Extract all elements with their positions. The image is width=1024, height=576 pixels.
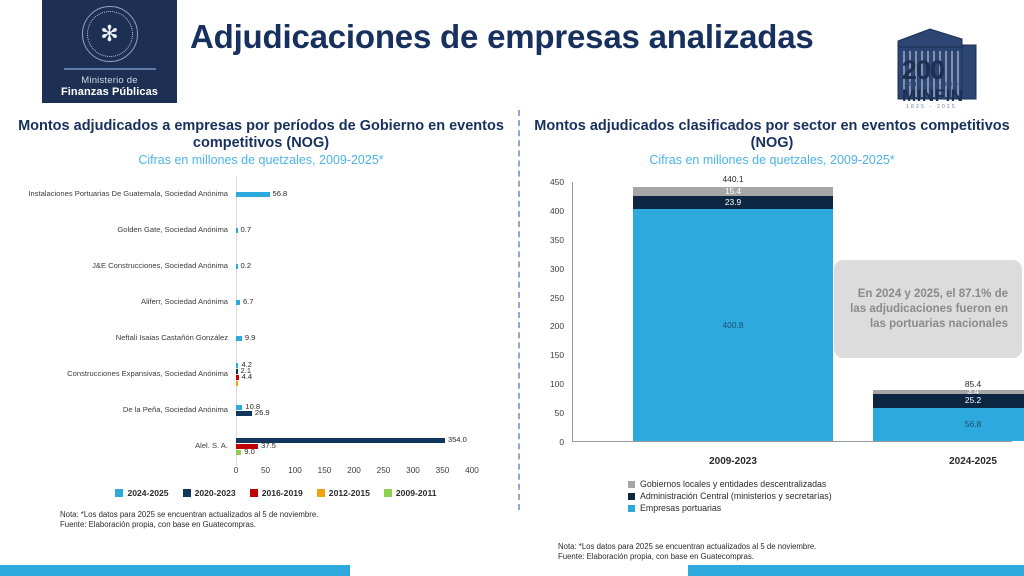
bar-value-label: 0.7 xyxy=(241,226,252,234)
legend-label: Administración Central (ministerios y se… xyxy=(640,490,832,502)
y-axis-tick: 350 xyxy=(550,235,564,245)
bar-category-label: Alel. S. A. xyxy=(8,441,236,451)
stack-value-label: 23.9 xyxy=(725,198,741,207)
bar-group: 9.9 xyxy=(236,320,514,356)
bar-segment xyxy=(236,381,238,386)
x-axis-tick: 300 xyxy=(406,466,420,475)
stack-value-label: 25.2 xyxy=(965,396,981,405)
bar-group: 354.037.59.0 xyxy=(236,428,514,464)
bar-value-label: 354.0 xyxy=(448,436,467,444)
stack-segment: 15.4 xyxy=(633,187,833,196)
x-axis-category-label: 2009-2023 xyxy=(653,456,813,467)
minfin-anniversary-logo: 200 ANIVERSARIO MINFIN 1825 - 2025 xyxy=(880,17,996,107)
callout-text: En 2024 y 2025, el 87.1% de las adjudica… xyxy=(848,287,1008,332)
legend-swatch-icon xyxy=(183,489,191,497)
left-chart-x-ticks: 050100150200250300350400 xyxy=(236,466,514,480)
page-title: Adjudicaciones de empresas analizadas xyxy=(190,18,890,56)
bar-row: Construcciones Expansivas, Sociedad Anón… xyxy=(8,356,514,392)
bar-segment xyxy=(236,405,242,410)
footer-bar-right xyxy=(688,565,1024,576)
bar-segment xyxy=(236,375,239,380)
bar-segment xyxy=(236,228,238,233)
bar-row: Neftali Isaias Castañón González9.9 xyxy=(8,320,514,356)
x-axis-tick: 150 xyxy=(318,466,332,475)
stack-segment: 400.8 xyxy=(633,209,833,441)
left-panel: Montos adjudicados a empresas por períod… xyxy=(8,118,514,530)
bar-category-label: J&E Construcciones, Sociedad Anónima xyxy=(8,261,236,271)
stack-total-label: 440.1 xyxy=(633,174,833,184)
legend-item[interactable]: Empresas portuarias xyxy=(628,502,832,514)
legend-swatch-icon xyxy=(628,481,635,488)
bar-value-label: 9.0 xyxy=(244,448,255,456)
right-chart-note: Nota: *Los datos para 2025 se encuentran… xyxy=(558,542,816,562)
left-chart-note: Nota: *Los datos para 2025 se encuentran… xyxy=(8,510,514,530)
bar-value-label: 56.8 xyxy=(273,190,288,198)
y-axis-tick: 200 xyxy=(550,321,564,331)
bar-segment xyxy=(236,411,252,416)
x-axis-tick: 350 xyxy=(436,466,450,475)
y-axis-tick: 100 xyxy=(550,379,564,389)
stack-total-label: 85.4 xyxy=(873,379,1024,389)
minfin-brand: MINFIN xyxy=(902,87,964,105)
anniversary-number: 200 xyxy=(902,57,944,84)
y-axis-tick: 150 xyxy=(550,350,564,360)
legend-item[interactable]: 2016-2019 xyxy=(250,488,303,498)
stack-value-label: 400.8 xyxy=(723,321,744,330)
bar-group: 0.2 xyxy=(236,248,514,284)
left-chart-title: Montos adjudicados a empresas por períod… xyxy=(8,118,514,152)
x-axis-tick: 50 xyxy=(261,466,270,475)
stack-value-label: 15.4 xyxy=(725,187,741,196)
bar-category-label: Neftali Isaias Castañón González xyxy=(8,333,236,343)
y-axis-tick: 250 xyxy=(550,293,564,303)
ministry-logo: ✻ Ministerio de Finanzas Públicas xyxy=(42,0,177,103)
stacked-bar: 15.423.9400.8440.1 xyxy=(633,187,833,441)
y-axis-tick: 400 xyxy=(550,206,564,216)
x-axis-tick: 0 xyxy=(234,466,239,475)
guatemala-seal-icon: ✻ xyxy=(82,6,138,62)
x-axis-tick: 200 xyxy=(347,466,361,475)
legend-swatch-icon xyxy=(250,489,258,497)
bar-group: 10.826.9 xyxy=(236,392,514,428)
left-note-line-2: Fuente: Elaboración propia, con base en … xyxy=(60,520,514,530)
y-axis-tick: 300 xyxy=(550,264,564,274)
stack-segment: 56.8 xyxy=(873,408,1024,441)
bar-row: Alel. S. A.354.037.59.0 xyxy=(8,428,514,464)
right-note-line-1: Nota: *Los datos para 2025 se encuentran… xyxy=(558,542,816,552)
stack-segment: 25.2 xyxy=(873,394,1024,409)
ministry-line-2: Finanzas Públicas xyxy=(61,86,158,98)
x-axis-tick: 250 xyxy=(377,466,391,475)
stacked-bar-chart: 050100150200250300350400450 15.423.9400.… xyxy=(524,176,1020,476)
bar-value-label: 9.9 xyxy=(245,334,256,342)
right-chart-legend: Gobiernos locales y entidades descentral… xyxy=(628,478,832,514)
bar-group: 4.22.14.4 xyxy=(236,356,514,392)
ministry-line-1: Ministerio de xyxy=(81,75,137,86)
left-chart-subtitle: Cifras en millones de quetzales, 2009-20… xyxy=(8,153,514,168)
legend-item[interactable]: Administración Central (ministerios y se… xyxy=(628,490,832,502)
legend-label: Empresas portuarias xyxy=(640,502,721,514)
legend-label: 2016-2019 xyxy=(262,488,303,498)
legend-item[interactable]: 2012-2015 xyxy=(317,488,370,498)
bar-group: 6.7 xyxy=(236,284,514,320)
right-chart-title: Montos adjudicados clasificados por sect… xyxy=(524,118,1020,152)
bar-category-label: De la Peña, Sociedad Anónima xyxy=(8,405,236,415)
legend-swatch-icon xyxy=(628,493,635,500)
legend-label: 2020-2023 xyxy=(195,488,236,498)
y-axis-tick: 50 xyxy=(555,408,564,418)
legend-swatch-icon xyxy=(384,489,392,497)
bar-group: 56.8 xyxy=(236,176,514,212)
left-note-line-1: Nota: *Los datos para 2025 se encuentran… xyxy=(60,510,514,520)
legend-item[interactable]: 2009-2011 xyxy=(384,488,437,498)
footer-bar-left xyxy=(0,565,350,576)
logo-divider xyxy=(64,68,156,70)
bar-segment xyxy=(236,300,240,305)
bar-group: 0.7 xyxy=(236,212,514,248)
legend-label: 2009-2011 xyxy=(396,488,437,498)
x-axis-tick: 100 xyxy=(288,466,302,475)
x-axis-tick: 400 xyxy=(465,466,479,475)
panel-divider xyxy=(518,110,520,510)
bar-value-label: 37.5 xyxy=(261,442,276,450)
right-chart-y-ticks: 050100150200250300350400450 xyxy=(524,176,568,442)
y-axis-tick: 0 xyxy=(559,437,564,447)
bar-segment xyxy=(236,192,270,197)
grouped-bar-chart: Instalaciones Portuarias De Guatemala, S… xyxy=(8,176,514,466)
legend-swatch-icon xyxy=(628,505,635,512)
right-note-line-2: Fuente: Elaboración propia, con base en … xyxy=(558,552,816,562)
left-chart-legend: 2024-20252020-20232016-20192012-20152009… xyxy=(8,488,514,498)
legend-label: 2024-2025 xyxy=(127,488,168,498)
legend-label: Gobiernos locales y entidades descentral… xyxy=(640,478,826,490)
legend-swatch-icon xyxy=(115,489,123,497)
stacked-bar: 3.425.256.885.4 xyxy=(873,390,1024,441)
bar-category-label: Golden Gate, Sociedad Anónima xyxy=(8,225,236,235)
bar-row: Golden Gate, Sociedad Anónima0.7 xyxy=(8,212,514,248)
legend-item[interactable]: 2024-2025 xyxy=(115,488,168,498)
bar-row: De la Peña, Sociedad Anónima10.826.9 xyxy=(8,392,514,428)
right-panel: Montos adjudicados clasificados por sect… xyxy=(524,118,1020,476)
bar-value-label: 0.2 xyxy=(241,262,252,270)
legend-item[interactable]: 2020-2023 xyxy=(183,488,236,498)
callout-box: En 2024 y 2025, el 87.1% de las adjudica… xyxy=(834,260,1022,358)
bar-segment xyxy=(236,369,238,374)
bar-segment xyxy=(236,450,241,455)
stack-segment: 23.9 xyxy=(633,196,833,210)
bar-value-label: 26.9 xyxy=(255,409,270,417)
bar-value-label: 4.4 xyxy=(242,373,253,381)
bar-category-label: Instalaciones Portuarias De Guatemala, S… xyxy=(8,189,236,199)
anniversary-years: 1825 - 2025 xyxy=(906,104,957,110)
bar-value-label: 6.7 xyxy=(243,298,254,306)
bar-segment xyxy=(236,363,238,368)
y-axis-tick: 450 xyxy=(550,177,564,187)
bar-category-label: Construcciones Expansivas, Sociedad Anón… xyxy=(8,369,236,379)
legend-label: 2012-2015 xyxy=(329,488,370,498)
bar-row: Instalaciones Portuarias De Guatemala, S… xyxy=(8,176,514,212)
bar-segment xyxy=(236,336,242,341)
right-chart-subtitle: Cifras en millones de quetzales, 2009-20… xyxy=(524,153,1020,168)
bar-row: Aliferr, Sociedad Anónima6.7 xyxy=(8,284,514,320)
stack-value-label: 56.8 xyxy=(965,420,981,429)
x-axis-category-label: 2024-2025 xyxy=(893,456,1024,467)
legend-swatch-icon xyxy=(317,489,325,497)
bar-segment xyxy=(236,264,238,269)
bar-category-label: Aliferr, Sociedad Anónima xyxy=(8,297,236,307)
legend-item[interactable]: Gobiernos locales y entidades descentral… xyxy=(628,478,832,490)
bar-row: J&E Construcciones, Sociedad Anónima0.2 xyxy=(8,248,514,284)
